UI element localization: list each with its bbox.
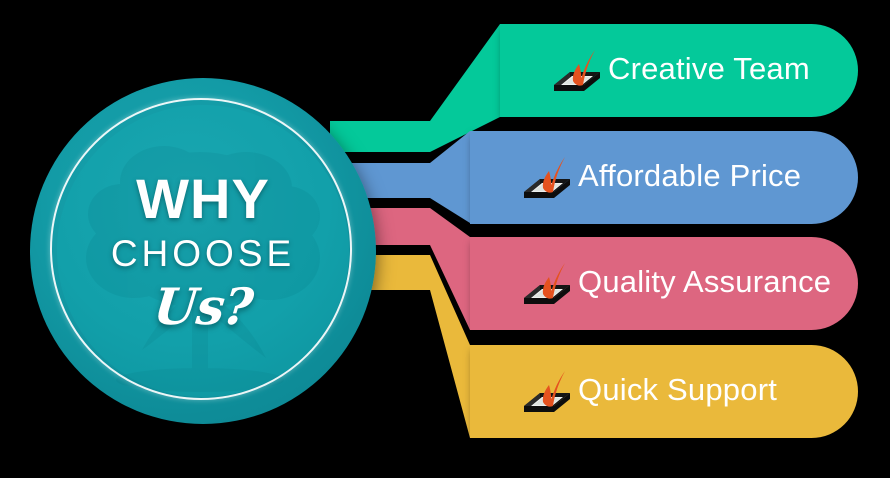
feature-banner-creative-team[interactable]: Creative Team (500, 24, 858, 117)
why-choose-us-badge: WHY CHOOSE Us? (30, 78, 376, 424)
feature-label: Quality Assurance (578, 266, 831, 297)
feature-label: Creative Team (608, 53, 810, 84)
badge-line-choose: CHOOSE (111, 235, 295, 272)
checkbox-check-icon (518, 258, 574, 314)
feature-banner-quick-support[interactable]: Quick Support (470, 345, 858, 438)
feature-label: Quick Support (578, 374, 777, 405)
badge-line-why: WHY (136, 171, 270, 227)
infographic-canvas: WHY CHOOSE Us? Creative Team (0, 0, 890, 478)
badge-line-us: Us? (151, 282, 254, 332)
feature-banner-quality-assurance[interactable]: Quality Assurance (470, 237, 858, 330)
checkbox-check-icon (518, 366, 574, 422)
checkbox-check-icon (548, 45, 604, 101)
feature-label: Affordable Price (578, 160, 801, 191)
feature-banner-affordable-price[interactable]: Affordable Price (470, 131, 858, 224)
checkbox-check-icon (518, 152, 574, 208)
badge-text-block: WHY CHOOSE Us? (30, 78, 376, 424)
